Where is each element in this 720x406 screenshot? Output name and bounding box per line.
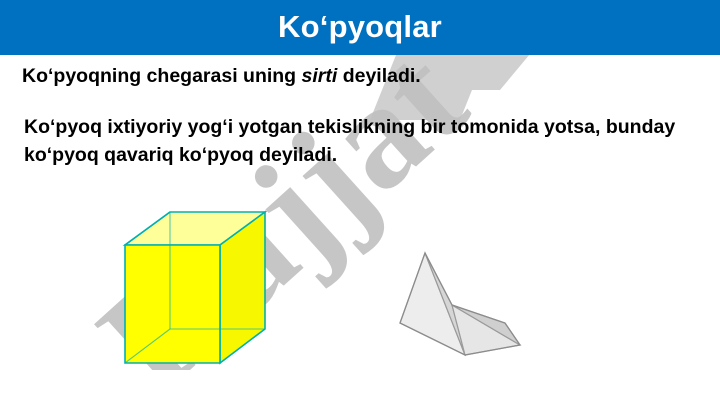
slide-title: Ko‘pyoqlar [0,9,720,45]
polyhedron-figure [380,205,580,405]
figures-area [0,195,720,395]
paragraph-two: Ko‘pyoq ixtiyoriy yog‘i yotgan tekislikn… [24,113,704,169]
paragraph-one: Ko‘pyoqning chegarasi uning sirti deyila… [22,63,702,89]
paragraph-one-part2: deyiladi. [337,65,420,87]
paragraph-one-emphasis: sirti [302,65,338,87]
slide: Hujjat Ko‘pyoqlar Ko‘pyoqning chegarasi … [0,0,720,406]
cube-figure [105,195,345,395]
paragraph-one-part1: Ko‘pyoqning chegarasi uning [22,65,302,87]
